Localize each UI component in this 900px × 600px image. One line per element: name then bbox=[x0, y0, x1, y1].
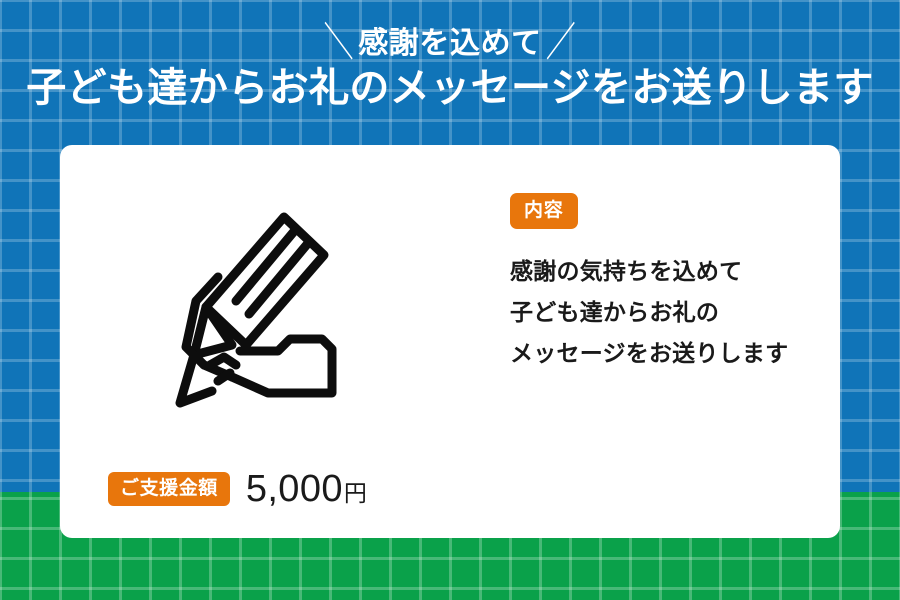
amount-row: ご支援金額 5,000 円 bbox=[108, 470, 367, 508]
amount-value-group: 5,000 円 bbox=[246, 470, 367, 508]
amount-number: 5,000 bbox=[246, 470, 343, 508]
header-title: 子ども達からお礼のメッセージをお送りします bbox=[0, 64, 900, 112]
header-block: ＼感謝を込めて／ 子ども達からお礼のメッセージをお送りします bbox=[0, 24, 900, 112]
slash-right-decoration: ／ bbox=[546, 17, 577, 71]
description-line-1: 感謝の気持ちを込めて bbox=[510, 251, 840, 292]
description-line-3: メッセージをお送りします bbox=[510, 333, 840, 374]
header-subtitle-text: 感謝を込めて bbox=[358, 27, 542, 60]
amount-currency-unit: 円 bbox=[344, 482, 367, 505]
reward-card-graphic: ＼感謝を込めて／ 子ども達からお礼のメッセージをお送りします bbox=[0, 0, 900, 600]
header-subtitle-line: ＼感謝を込めて／ bbox=[0, 24, 900, 64]
slash-left-decoration: ＼ bbox=[324, 17, 355, 71]
hand-writing-pencil-icon bbox=[172, 205, 344, 420]
amount-badge-label: ご支援金額 bbox=[108, 472, 230, 506]
section-badge-contents: 内容 bbox=[510, 193, 578, 229]
content-column: 内容 感謝の気持ちを込めて 子ども達からお礼の メッセージをお送りします bbox=[510, 193, 840, 374]
reward-card: 内容 感謝の気持ちを込めて 子ども達からお礼の メッセージをお送りします ご支援… bbox=[60, 145, 840, 538]
description-line-2: 子ども達からお礼の bbox=[510, 292, 840, 333]
description-text: 感謝の気持ちを込めて 子ども達からお礼の メッセージをお送りします bbox=[510, 251, 840, 374]
